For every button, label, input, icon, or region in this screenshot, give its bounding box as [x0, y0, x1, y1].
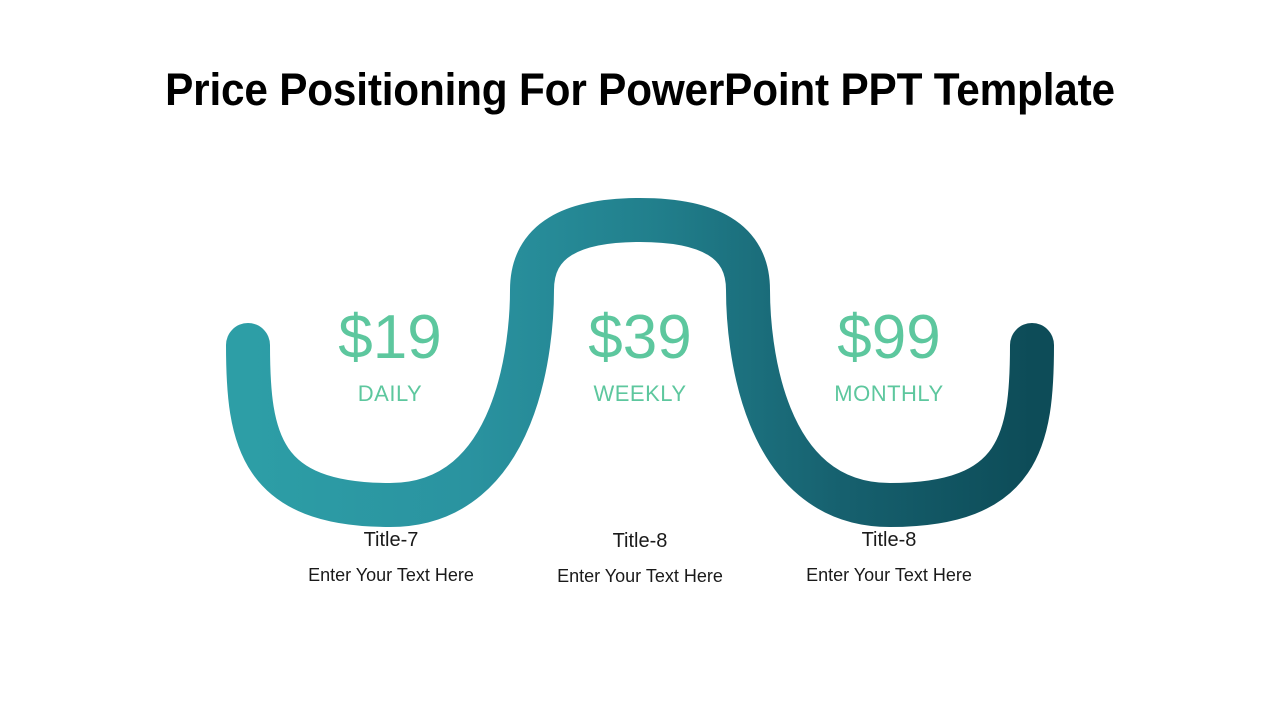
caption-group-weekly: Title-8 Enter Your Text Here — [510, 530, 770, 589]
price-period-daily: DAILY — [260, 383, 520, 405]
caption-group-monthly: Title-8 Enter Your Text Here — [759, 529, 1019, 588]
caption-body-daily: Enter Your Text Here — [261, 562, 521, 588]
price-group-daily: $19 DAILY — [260, 307, 520, 405]
price-group-monthly: $99 MONTHLY — [759, 307, 1019, 405]
page-title: Price Positioning For PowerPoint PPT Tem… — [38, 64, 1241, 116]
price-period-weekly: WEEKLY — [510, 383, 770, 405]
caption-title-daily: Title-7 — [261, 529, 521, 551]
caption-body-monthly: Enter Your Text Here — [759, 562, 1019, 588]
caption-body-weekly: Enter Your Text Here — [510, 563, 770, 589]
caption-title-weekly: Title-8 — [510, 530, 770, 552]
caption-title-monthly: Title-8 — [759, 529, 1019, 551]
slide-canvas: Price Positioning For PowerPoint PPT Tem… — [0, 0, 1280, 720]
price-amount-daily: $19 — [260, 307, 520, 369]
price-group-weekly: $39 WEEKLY — [510, 307, 770, 405]
price-amount-monthly: $99 — [759, 307, 1019, 369]
caption-group-daily: Title-7 Enter Your Text Here — [261, 529, 521, 588]
price-amount-weekly: $39 — [510, 307, 770, 369]
price-period-monthly: MONTHLY — [759, 383, 1019, 405]
